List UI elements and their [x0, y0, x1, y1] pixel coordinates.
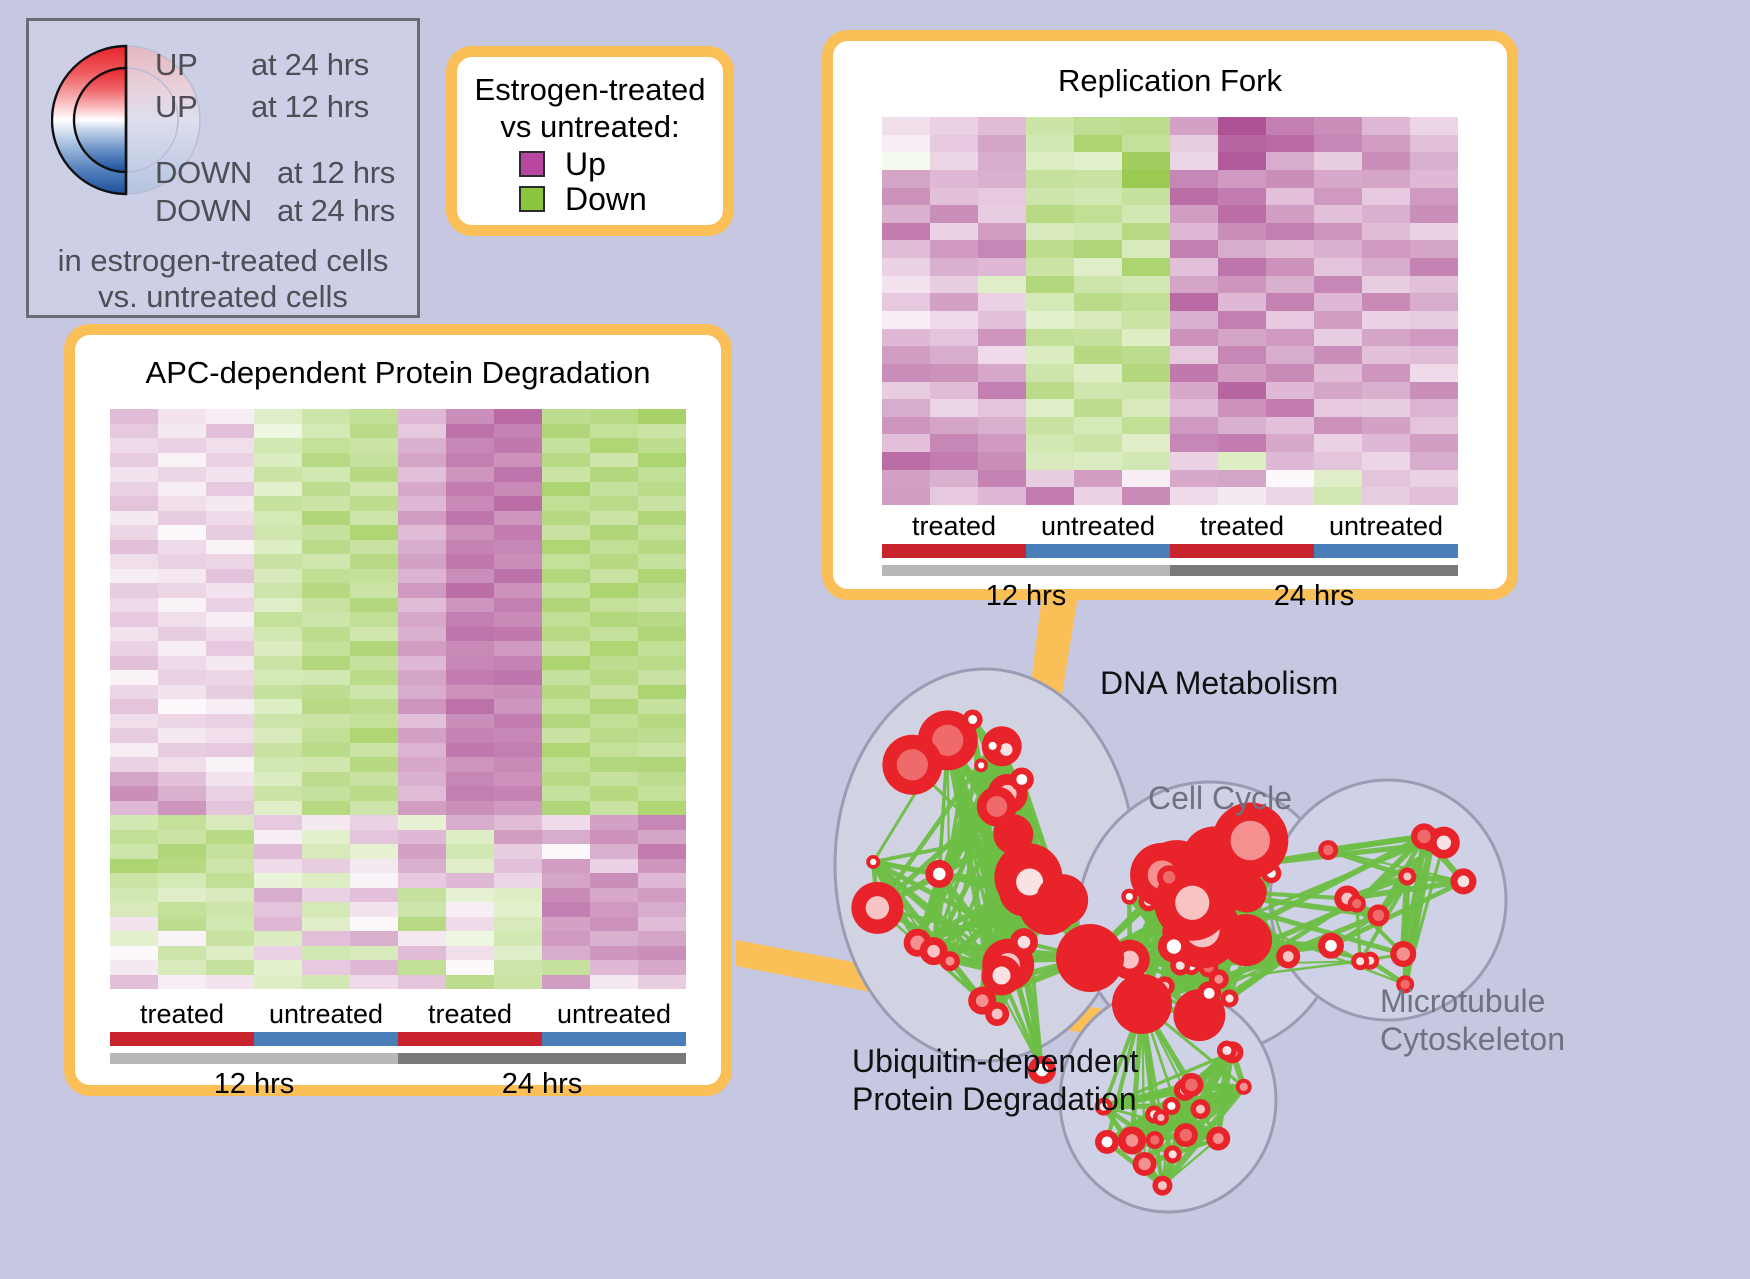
node-inner-core	[1356, 957, 1364, 965]
heatmap-cell	[1170, 117, 1218, 135]
heatmap-cell	[1026, 329, 1074, 347]
heatmap-cell	[254, 554, 302, 569]
heatmap-cell	[638, 931, 686, 946]
heatmap-cell	[1314, 399, 1362, 417]
heatmap-cell	[206, 888, 254, 903]
heatmap-cell	[978, 276, 1026, 294]
legend-swatch-down-icon	[519, 186, 545, 212]
heatmap-cell	[110, 946, 158, 961]
network-node[interactable]	[1318, 840, 1338, 860]
heatmap-cell	[446, 772, 494, 787]
heatmap-cell	[254, 496, 302, 511]
heatmap-cell	[398, 467, 446, 482]
network-node[interactable]	[1348, 895, 1366, 913]
heatmap-cell	[542, 873, 590, 888]
heatmap-cell	[350, 656, 398, 671]
legend-label-down: Down	[565, 183, 647, 215]
network-node[interactable]	[851, 882, 903, 934]
heatmap-cell	[110, 438, 158, 453]
heatmap-cell	[590, 409, 638, 424]
network-node[interactable]	[866, 855, 880, 869]
legend-title-line1: Estrogen-treated	[457, 71, 723, 108]
heatmap-cell	[302, 815, 350, 830]
heatmap-cell	[542, 931, 590, 946]
heatmap-cell	[398, 540, 446, 555]
network-node[interactable]	[1236, 1079, 1252, 1095]
heatmap-cell	[110, 482, 158, 497]
heatmap-cell	[1314, 329, 1362, 347]
heatmap-cell	[1170, 205, 1218, 223]
heatmap-cell	[1410, 293, 1458, 311]
heatmap-cell	[1266, 276, 1314, 294]
heatmap-cell	[1266, 434, 1314, 452]
heatmap-cell	[302, 670, 350, 685]
heatmap-cell	[254, 583, 302, 598]
network-node[interactable]	[1450, 868, 1476, 894]
heatmap-cell	[590, 975, 638, 990]
heatmap-cell	[254, 525, 302, 540]
key-row-2-time: at 12 hrs	[277, 155, 395, 191]
heatmap-cell	[158, 859, 206, 874]
heatmap-cell	[1122, 117, 1170, 135]
heatmap-cell	[882, 170, 930, 188]
heatmap-cell	[590, 844, 638, 859]
apc-timepoint-bar-1	[398, 1053, 686, 1064]
network-node[interactable]	[1056, 924, 1124, 992]
heatmap-cell	[110, 554, 158, 569]
heatmap-cell	[978, 240, 1026, 258]
heatmap-cell	[930, 117, 978, 135]
node-inner-core	[1175, 886, 1209, 920]
heatmap-cell	[446, 728, 494, 743]
heatmap-cell	[494, 598, 542, 613]
apc-condition-bar-1	[254, 1032, 398, 1046]
heatmap-cell	[1410, 346, 1458, 364]
heatmap-cell	[302, 772, 350, 787]
network-node[interactable]	[1157, 865, 1181, 889]
heatmap-cell	[1218, 117, 1266, 135]
heatmap-cell	[494, 902, 542, 917]
heatmap-cell	[446, 453, 494, 468]
heatmap-cell	[158, 438, 206, 453]
heatmap-cell	[302, 612, 350, 627]
heatmap-cell	[446, 699, 494, 714]
heatmap-cell	[398, 873, 446, 888]
heatmap-cell	[254, 960, 302, 975]
heatmap-cell	[206, 786, 254, 801]
heatmap-cell	[542, 409, 590, 424]
heatmap-cell	[494, 511, 542, 526]
heatmap-cell	[350, 902, 398, 917]
heatmap-cell	[1362, 258, 1410, 276]
heatmap-cell	[398, 844, 446, 859]
network-node[interactable]	[963, 710, 983, 730]
heatmap-cell	[302, 685, 350, 700]
network-node[interactable]	[920, 937, 948, 965]
heatmap-cell	[110, 569, 158, 584]
heatmap-cell	[1026, 205, 1074, 223]
heatmap-cell	[254, 482, 302, 497]
heatmap-cell	[398, 670, 446, 685]
heatmap-cell	[494, 728, 542, 743]
heatmap-cell	[930, 311, 978, 329]
heatmap-cell	[542, 656, 590, 671]
heatmap-cell	[446, 496, 494, 511]
heatmap-cell	[882, 152, 930, 170]
heatmap-cell	[978, 293, 1026, 311]
heatmap-cell	[590, 757, 638, 772]
heatmap-cell	[254, 612, 302, 627]
heatmap-cell	[1074, 240, 1122, 258]
legend-title: Estrogen-treated vs untreated:	[457, 71, 723, 145]
heatmap-cell	[254, 656, 302, 671]
heatmap-cell	[978, 417, 1026, 435]
heatmap-cell	[446, 757, 494, 772]
key-row-3-time: at 24 hrs	[277, 193, 395, 229]
node-inner-core	[978, 762, 984, 768]
heatmap-cell	[1026, 487, 1074, 505]
heatmap-cell	[978, 452, 1026, 470]
heatmap-cell	[398, 859, 446, 874]
heatmap-cell	[1410, 240, 1458, 258]
heatmap-cell	[1410, 417, 1458, 435]
heatmap-cell	[1122, 276, 1170, 294]
heatmap-cell	[1218, 258, 1266, 276]
heatmap-cell	[590, 569, 638, 584]
heatmap-cell	[302, 888, 350, 903]
network-node[interactable]	[882, 735, 942, 795]
heatmap-cell	[590, 917, 638, 932]
key-row-0-direction: UP	[155, 47, 197, 83]
heatmap-cell	[1266, 117, 1314, 135]
heatmap-cell	[590, 815, 638, 830]
heatmap-cell	[638, 830, 686, 845]
network-node[interactable]	[1390, 941, 1416, 967]
node-inner-core	[968, 715, 977, 724]
heatmap-cell	[1362, 135, 1410, 153]
heatmap-cell	[158, 641, 206, 656]
heatmap-cell	[590, 453, 638, 468]
key-row-3-direction: DOWN	[155, 193, 252, 229]
heatmap-cell	[1122, 382, 1170, 400]
heatmap-cell	[158, 670, 206, 685]
heatmap-cell	[1314, 382, 1362, 400]
heatmap-cell	[1218, 417, 1266, 435]
heatmap-cell	[110, 656, 158, 671]
heatmap-cell	[1314, 240, 1362, 258]
heatmap-cell	[206, 511, 254, 526]
heatmap-cell	[1170, 293, 1218, 311]
network-node[interactable]	[1164, 1145, 1182, 1163]
network-node[interactable]	[925, 860, 953, 888]
node-inner-core	[897, 749, 928, 780]
node-inner-core	[1158, 1181, 1167, 1190]
heatmap-cell	[1074, 470, 1122, 488]
node-inner-core	[1396, 947, 1410, 961]
heatmap-cell	[302, 569, 350, 584]
heatmap-cell	[398, 888, 446, 903]
heatmap-cell	[110, 888, 158, 903]
rep-condition-bar-1	[1026, 544, 1170, 558]
heatmap-cell	[590, 888, 638, 903]
heatmap-cell	[158, 554, 206, 569]
network-node[interactable]	[1398, 867, 1416, 885]
heatmap-cell	[1362, 417, 1410, 435]
cluster-label-ubiquitin: Ubiquitin-dependent Protein Degradation	[852, 1042, 1138, 1118]
color-key-footer: in estrogen-treated cells vs. untreated …	[29, 243, 417, 315]
heatmap-cell	[206, 424, 254, 439]
heatmap-cell	[254, 786, 302, 801]
heatmap-cell	[1026, 470, 1074, 488]
heatmap-cell	[1074, 364, 1122, 382]
heatmap-cell	[542, 670, 590, 685]
network-node[interactable]	[1276, 944, 1300, 968]
network-node[interactable]	[1010, 767, 1034, 791]
heatmap-cell	[542, 453, 590, 468]
heatmap-cell	[494, 960, 542, 975]
heatmap-cell	[590, 946, 638, 961]
heatmap-cell	[590, 931, 638, 946]
heatmap-cell	[494, 656, 542, 671]
heatmap-cell	[638, 453, 686, 468]
network-node[interactable]	[1112, 974, 1172, 1034]
heatmap-cell	[638, 772, 686, 787]
heatmap-cell	[110, 670, 158, 685]
heatmap-cell	[590, 873, 638, 888]
heatmap-cell	[1314, 487, 1362, 505]
heatmap-cell	[398, 438, 446, 453]
network-node[interactable]	[1190, 1099, 1210, 1119]
heatmap-cell	[1170, 346, 1218, 364]
heatmap-cell	[302, 975, 350, 990]
heatmap-cell	[254, 540, 302, 555]
network-node[interactable]	[974, 758, 988, 772]
network-node[interactable]	[1036, 874, 1088, 926]
network-node[interactable]	[1133, 1152, 1157, 1176]
apc-condition-bar-2	[398, 1032, 542, 1046]
heatmap-cell	[302, 728, 350, 743]
heatmap-cell	[254, 859, 302, 874]
heatmap-cell	[1170, 188, 1218, 206]
node-inner-core	[1214, 975, 1223, 984]
heatmap-cell	[110, 612, 158, 627]
network-node[interactable]	[1197, 981, 1221, 1005]
heatmap-cell	[158, 525, 206, 540]
heatmap-cell	[978, 258, 1026, 276]
network-node[interactable]	[993, 814, 1033, 854]
heatmap-cell	[1026, 293, 1074, 311]
heatmap-cell	[158, 583, 206, 598]
node-inner-core	[1403, 872, 1411, 880]
heatmap-cell	[930, 276, 978, 294]
heatmap-cell	[1074, 434, 1122, 452]
heatmap-cell	[158, 931, 206, 946]
heatmap-cell	[446, 569, 494, 584]
network-node[interactable]	[1152, 1176, 1172, 1196]
node-inner-core	[1240, 1083, 1248, 1091]
heatmap-cell	[1266, 240, 1314, 258]
heatmap-cell	[978, 399, 1026, 417]
apc-condition-labels: treated untreated treated untreated	[110, 999, 686, 1030]
heatmap-cell	[302, 699, 350, 714]
network-node[interactable]	[1174, 1123, 1198, 1147]
heatmap-cell	[350, 525, 398, 540]
heatmap-cell	[930, 170, 978, 188]
heatmap-cell	[350, 685, 398, 700]
heatmap-cell	[1362, 452, 1410, 470]
heatmap-cell	[158, 612, 206, 627]
heatmap-cell	[1362, 205, 1410, 223]
heatmap-cell	[542, 641, 590, 656]
heatmap-cell	[302, 873, 350, 888]
network-node[interactable]	[1318, 933, 1344, 959]
heatmap-cell	[930, 135, 978, 153]
heatmap-cell	[398, 453, 446, 468]
heatmap-cell	[590, 830, 638, 845]
heatmap-cell	[882, 487, 930, 505]
heatmap-cell	[110, 525, 158, 540]
heatmap-cell	[110, 931, 158, 946]
network-node[interactable]	[1010, 928, 1038, 956]
updown-legend-box: Estrogen-treated vs untreated: Up Down	[446, 46, 734, 236]
heatmap-cell	[542, 627, 590, 642]
heatmap-cell	[542, 424, 590, 439]
heatmap-cell	[882, 276, 930, 294]
apc-condition-bar-0	[110, 1032, 254, 1046]
network-node[interactable]	[1146, 1131, 1164, 1149]
heatmap-cell	[350, 496, 398, 511]
heatmap-cell	[446, 946, 494, 961]
heatmap-cell	[254, 772, 302, 787]
heatmap-cell	[158, 511, 206, 526]
node-inner-core	[1150, 1135, 1159, 1144]
heatmap-cell	[590, 728, 638, 743]
heatmap-cell	[446, 815, 494, 830]
heatmap-cell	[1074, 311, 1122, 329]
heatmap-cell	[1170, 382, 1218, 400]
heatmap-cell	[638, 801, 686, 816]
heatmap-cell	[1218, 434, 1266, 452]
heatmap-cell	[978, 311, 1026, 329]
heatmap-cell	[1026, 364, 1074, 382]
heatmap-cell	[110, 975, 158, 990]
network-node[interactable]	[1221, 989, 1239, 1007]
heatmap-cell	[158, 482, 206, 497]
heatmap-cell	[1314, 293, 1362, 311]
heatmap-cell	[542, 482, 590, 497]
cluster-label-ubiquitin-line2: Protein Degradation	[852, 1080, 1138, 1118]
heatmap-cell	[1410, 117, 1458, 135]
network-node[interactable]	[1411, 823, 1437, 849]
heatmap-cell	[206, 583, 254, 598]
network-node[interactable]	[1217, 1041, 1237, 1061]
heatmap-cell	[398, 960, 446, 975]
heatmap-cell	[158, 598, 206, 613]
network-node[interactable]	[1206, 1127, 1230, 1151]
network-node[interactable]	[984, 737, 1002, 755]
heatmap-cell	[930, 399, 978, 417]
heatmap-cell	[1266, 152, 1314, 170]
heatmap-cell	[206, 627, 254, 642]
heatmap-cell	[542, 583, 590, 598]
heatmap-cell	[446, 511, 494, 526]
heatmap-cell	[1170, 470, 1218, 488]
heatmap-cell	[302, 554, 350, 569]
heatmap-cell	[638, 612, 686, 627]
network-node[interactable]	[981, 956, 1021, 996]
heatmap-cell	[1314, 276, 1362, 294]
network-node[interactable]	[1121, 889, 1137, 905]
network-node[interactable]	[985, 1002, 1009, 1026]
heatmap-cell	[1218, 223, 1266, 241]
node-inner-core	[1196, 1105, 1205, 1114]
heatmap-cell	[1266, 258, 1314, 276]
heatmap-cell	[350, 511, 398, 526]
heatmap-cell	[446, 743, 494, 758]
node-inner-core	[1157, 1114, 1164, 1121]
network-node[interactable]	[1095, 1130, 1119, 1154]
heatmap-cell	[206, 728, 254, 743]
heatmap-cell	[1026, 240, 1074, 258]
network-node[interactable]	[1162, 1097, 1180, 1115]
cluster-label-dna-metabolism: DNA Metabolism	[1100, 665, 1338, 702]
heatmap-cell	[638, 786, 686, 801]
heatmap-cell	[398, 685, 446, 700]
heatmap-cell	[882, 470, 930, 488]
heatmap-cell	[1122, 417, 1170, 435]
heatmap-cell	[398, 496, 446, 511]
heatmap-cell	[590, 743, 638, 758]
heatmap-cell	[542, 830, 590, 845]
replication-fork-condition-labels: treated untreated treated untreated	[882, 511, 1458, 542]
heatmap-cell	[302, 917, 350, 932]
legend-title-line2: vs untreated:	[457, 108, 723, 145]
heatmap-cell	[590, 612, 638, 627]
heatmap-cell	[206, 844, 254, 859]
heatmap-cell	[542, 438, 590, 453]
network-node[interactable]	[1118, 1126, 1146, 1154]
heatmap-cell	[978, 487, 1026, 505]
heatmap-cell	[494, 554, 542, 569]
heatmap-cell	[1074, 399, 1122, 417]
heatmap-cell	[1266, 205, 1314, 223]
network-node[interactable]	[1179, 1073, 1203, 1097]
network-node[interactable]	[1367, 904, 1389, 926]
heatmap-cell	[638, 641, 686, 656]
heatmap-cell	[158, 409, 206, 424]
node-inner-core	[1180, 1129, 1192, 1141]
heatmap-cell	[1362, 170, 1410, 188]
heatmap-cell	[494, 699, 542, 714]
heatmap-cell	[590, 859, 638, 874]
heatmap-cell	[494, 438, 542, 453]
heatmap-cell	[978, 170, 1026, 188]
heatmap-cell	[158, 757, 206, 772]
heatmap-cell	[1170, 399, 1218, 417]
heatmap-cell	[398, 482, 446, 497]
panel-apc-degradation: APC-dependent Protein Degradation treate…	[64, 324, 732, 1096]
heatmap-cell	[350, 670, 398, 685]
heatmap-cell	[494, 931, 542, 946]
network-node[interactable]	[1351, 952, 1369, 970]
heatmap-cell	[978, 223, 1026, 241]
node-inner-core	[992, 967, 1010, 985]
heatmap-cell	[882, 346, 930, 364]
heatmap-cell	[1410, 364, 1458, 382]
heatmap-cell	[254, 453, 302, 468]
heatmap-cell	[110, 743, 158, 758]
heatmap-cell	[446, 482, 494, 497]
